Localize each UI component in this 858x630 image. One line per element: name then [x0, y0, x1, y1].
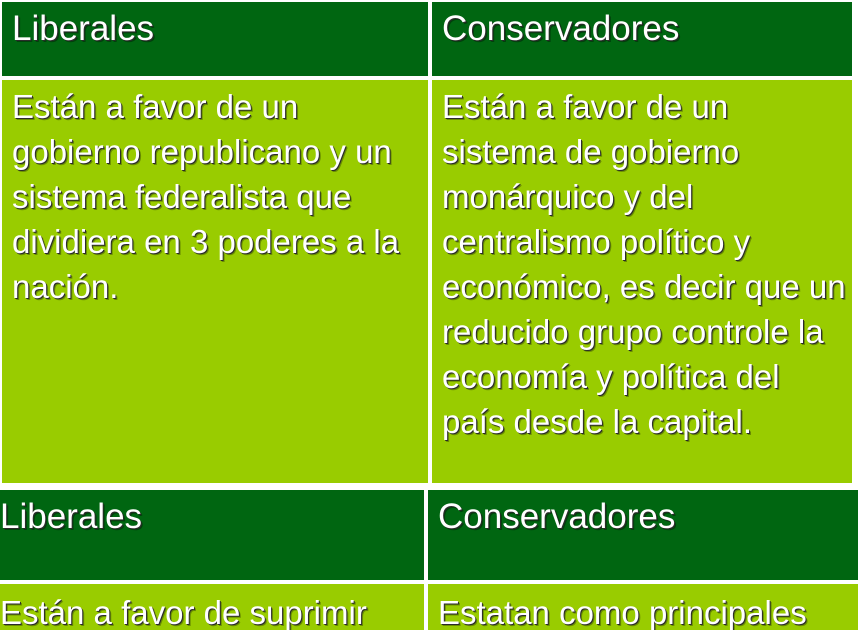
body-cell-conservadores-secondary[interactable]: Estatan como principales: [426, 582, 858, 630]
header-cell-conservadores[interactable]: Conservadores: [430, 0, 854, 78]
table-header-row-secondary: Liberales Conservadores: [0, 488, 858, 582]
table-row: Están a favor de un gobierno republicano…: [0, 78, 854, 485]
body-cell-conservadores[interactable]: Están a favor de un sistema de gobierno …: [430, 78, 854, 485]
header-cell-liberales-secondary[interactable]: Liberales: [0, 488, 426, 582]
comparison-table-secondary: Liberales Conservadores Están a favor de…: [0, 488, 858, 630]
body-cell-liberales-secondary[interactable]: Están a favor de suprimir: [0, 582, 426, 630]
header-cell-liberales-secondary-inner: Liberales: [0, 490, 424, 544]
body-text-conservadores-secondary: Estatan como principales: [438, 594, 807, 630]
header-cell-conservadores-secondary-inner: Conservadores: [428, 490, 858, 544]
slide-canvas: Liberales Conservadores Están a favor de…: [0, 0, 858, 630]
body-cell-liberales-secondary-inner: Están a favor de suprimir: [0, 584, 424, 630]
table-header-row: Liberales Conservadores: [0, 0, 854, 78]
table-row-secondary: Están a favor de suprimir Estatan como p…: [0, 582, 858, 630]
body-cell-liberales[interactable]: Están a favor de un gobierno republicano…: [0, 78, 430, 485]
comparison-table-primary: Liberales Conservadores Están a favor de…: [0, 0, 854, 485]
header-label-conservadores: Conservadores: [442, 9, 679, 48]
header-label-conservadores-secondary: Conservadores: [438, 497, 675, 536]
body-text-liberales: Están a favor de un gobierno republicano…: [12, 88, 399, 305]
body-cell-conservadores-inner: Están a favor de un sistema de gobierno …: [432, 80, 852, 450]
header-label-liberales: Liberales: [12, 9, 154, 48]
body-cell-liberales-inner: Están a favor de un gobierno republicano…: [2, 80, 428, 315]
body-text-liberales-secondary: Están a favor de suprimir: [0, 594, 367, 630]
header-cell-liberales[interactable]: Liberales: [0, 0, 430, 78]
header-cell-conservadores-inner: Conservadores: [432, 2, 852, 56]
header-cell-conservadores-secondary[interactable]: Conservadores: [426, 488, 858, 582]
body-text-conservadores: Están a favor de un sistema de gobierno …: [442, 88, 846, 440]
header-cell-liberales-inner: Liberales: [2, 2, 428, 56]
header-label-liberales-secondary: Liberales: [0, 497, 142, 536]
body-cell-conservadores-secondary-inner: Estatan como principales: [428, 584, 858, 630]
